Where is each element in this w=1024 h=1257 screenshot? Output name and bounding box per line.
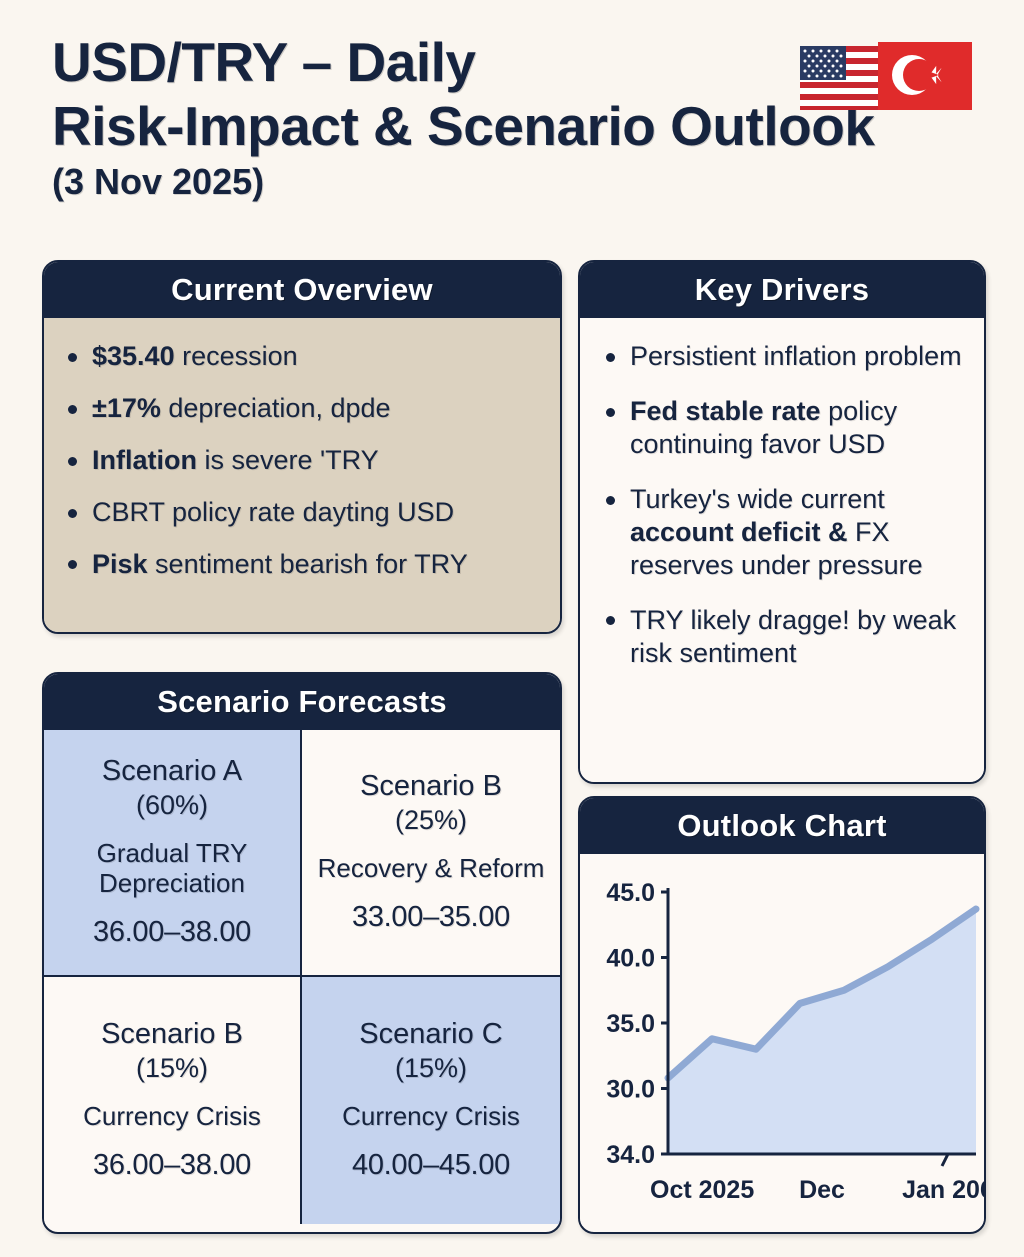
- scenario-forecasts-card: Scenario Forecasts Scenario A (60%) Grad…: [42, 672, 562, 1234]
- bullet-text: Turkey's wide current: [630, 484, 885, 514]
- bullet-text: Persistient inflation problem: [630, 341, 962, 371]
- list-item: Persistient inflation problem: [598, 340, 968, 373]
- scenario-range: 36.00–38.00: [93, 916, 251, 949]
- flags-svg: [800, 42, 972, 114]
- list-item: Pisk sentiment bearish for TRY: [60, 548, 540, 581]
- flag-pair: [800, 42, 972, 114]
- scenario-probability: (25%): [395, 805, 467, 836]
- x-tick-label: Oct 2025: [650, 1176, 754, 1204]
- bullet-bold: Fed stable rate: [630, 396, 821, 426]
- scenario-description: Recovery & Reform: [318, 853, 545, 884]
- y-tick-label: 35.0: [606, 1010, 655, 1038]
- bullet-bold: ±17%: [92, 393, 161, 423]
- current-overview-list: $35.40 recession ±17% depreciation, dpde…: [60, 340, 540, 581]
- page-header: USD/TRY – Daily Risk-Impact & Scenario O…: [52, 34, 972, 234]
- scenario-probability: (15%): [136, 1053, 208, 1084]
- outlook-chart-card: Outlook Chart 45.040.035.030.034.0Oct 20…: [578, 796, 986, 1234]
- bullet-text: TRY likely dragge! by weak risk sentimen…: [630, 605, 956, 668]
- bullet-text: recession: [175, 341, 298, 371]
- key-drivers-list: Persistient inflation problem Fed stable…: [598, 340, 968, 670]
- scenario-cell-b1[interactable]: Scenario B (25%) Recovery & Reform 33.00…: [302, 730, 560, 977]
- outlook-chart-svg: 45.040.035.030.034.0Oct 2025DecJan 206: [580, 854, 986, 1226]
- scenario-cell-b2[interactable]: Scenario B (15%) Currency Crisis 36.00–3…: [44, 977, 302, 1224]
- current-overview-body: $35.40 recession ±17% depreciation, dpde…: [44, 318, 560, 634]
- scenario-description: Currency Crisis: [342, 1101, 520, 1132]
- turkey-flag-icon: [878, 42, 972, 110]
- bullet-text: sentiment bearish for TRY: [148, 549, 468, 579]
- list-item: $35.40 recession: [60, 340, 540, 373]
- bullet-bold: Inflation: [92, 445, 197, 475]
- scenario-range: 40.00–45.00: [352, 1149, 510, 1182]
- key-drivers-heading: Key Drivers: [580, 262, 984, 318]
- x-tick: [942, 1154, 948, 1166]
- title-date: (3 Nov 2025): [52, 164, 792, 200]
- scenario-name: Scenario A: [102, 756, 242, 788]
- bullet-bold: $35.40: [92, 341, 175, 371]
- y-tick-label: 34.0: [606, 1141, 655, 1169]
- list-item: CBRT policy rate dayting USD: [60, 496, 540, 529]
- current-overview-card: Current Overview $35.40 recession ±17% d…: [42, 260, 562, 634]
- scenario-description: Currency Crisis: [83, 1101, 261, 1132]
- list-item: Inflation is severe 'TRY: [60, 444, 540, 477]
- bullet-text: depreciation, dpde: [161, 393, 391, 423]
- bullet-text: CBRT policy rate dayting USD: [92, 497, 454, 527]
- scenario-range: 36.00–38.00: [93, 1149, 251, 1182]
- chart-area-fill: [668, 909, 976, 1154]
- title-line-2: Risk-Impact & Scenario Outlook: [52, 98, 792, 154]
- title-line-1: USD/TRY – Daily: [52, 34, 792, 90]
- bullet-bold: Pisk: [92, 549, 148, 579]
- x-tick-label: Dec: [799, 1176, 845, 1204]
- list-item: ±17% depreciation, dpde: [60, 392, 540, 425]
- key-drivers-card: Key Drivers Persistient inflation proble…: [578, 260, 986, 784]
- page-title: USD/TRY – Daily Risk-Impact & Scenario O…: [52, 34, 792, 200]
- outlook-chart-heading: Outlook Chart: [580, 798, 984, 854]
- list-item: TRY likely dragge! by weak risk sentimen…: [598, 604, 968, 670]
- y-tick-label: 40.0: [606, 945, 655, 973]
- key-drivers-body: Persistient inflation problem Fed stable…: [580, 318, 984, 784]
- list-item: Turkey's wide current account deficit & …: [598, 483, 968, 582]
- scenario-description: Gradual TRY Depreciation: [52, 838, 292, 899]
- list-item: Fed stable rate policy continuing favor …: [598, 395, 968, 461]
- scenario-cell-a[interactable]: Scenario A (60%) Gradual TRY Depreciatio…: [44, 730, 302, 977]
- scenario-probability: (60%): [136, 790, 208, 821]
- scenario-grid: Scenario A (60%) Gradual TRY Depreciatio…: [44, 730, 560, 1224]
- outlook-chart-plot: 45.040.035.030.034.0Oct 2025DecJan 206: [580, 854, 984, 1226]
- y-tick-label: 45.0: [606, 879, 655, 907]
- bullet-text: is severe 'TRY: [197, 445, 379, 475]
- scenario-name: Scenario B: [101, 1019, 243, 1051]
- scenario-name: Scenario C: [359, 1019, 502, 1051]
- bullet-bold: account deficit &: [630, 517, 848, 547]
- scenario-cell-c[interactable]: Scenario C (15%) Currency Crisis 40.00–4…: [302, 977, 560, 1224]
- current-overview-heading: Current Overview: [44, 262, 560, 318]
- scenario-range: 33.00–35.00: [352, 901, 510, 934]
- y-tick-label: 30.0: [606, 1076, 655, 1104]
- scenario-probability: (15%): [395, 1053, 467, 1084]
- scenario-forecasts-heading: Scenario Forecasts: [44, 674, 560, 730]
- scenario-name: Scenario B: [360, 771, 502, 803]
- x-tick-label: Jan 206: [902, 1176, 986, 1204]
